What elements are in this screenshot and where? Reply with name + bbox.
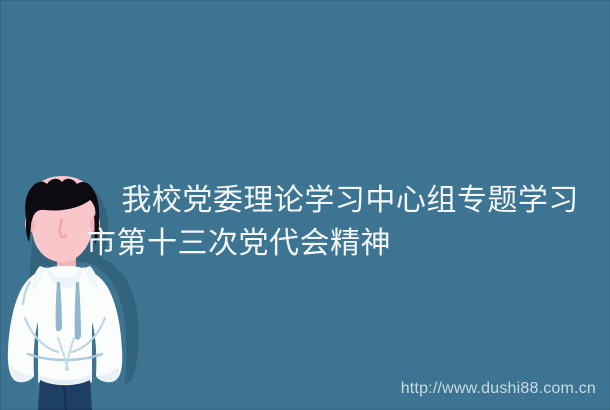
watermark-url: http://www.dushi88.com.cn bbox=[401, 380, 596, 398]
poster-headline: 我校党委理论学习中心组专题学习市第十三次党代会精神 bbox=[86, 136, 594, 351]
poster-canvas: 我校党委理论学习中心组专题学习市第十三次党代会精神 http://www.dus… bbox=[0, 0, 610, 410]
headline-line-2: 市第十三次党代会精神 bbox=[86, 222, 594, 265]
headline-line-1: 我校党委理论学习中心组专题学习 bbox=[121, 184, 579, 217]
